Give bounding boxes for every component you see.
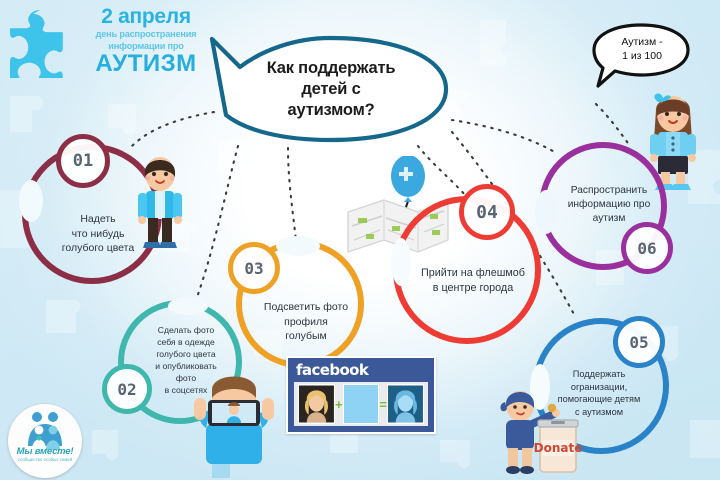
step-badge-01: 01 (56, 134, 110, 188)
step-number-05: 05 (629, 333, 648, 352)
step-06-line3: аутизм (547, 212, 671, 226)
puzzle-piece-icon (8, 10, 74, 78)
main-bubble-line1: Как поддержать (236, 58, 426, 79)
step-text-04: Прийти на флешмоб в центре города (405, 266, 541, 296)
step-05-line1: Поддержать (541, 368, 657, 381)
boy-taking-selfie-illustration (186, 368, 282, 480)
facebook-photo-strip: + = (294, 382, 428, 426)
main-bubble-text: Как поддержать детей с аутизмом? (236, 58, 426, 121)
step-04-line2: в центре города (405, 281, 541, 296)
step-text-06: Распространить информацию про аутизм (547, 184, 671, 226)
organization-logo: Мы вместе! сообщество особых семей (8, 404, 82, 478)
step-03-line1: Подсветить фото (246, 300, 366, 315)
step-text-03: Подсветить фото профиля голубым (246, 300, 366, 344)
donate-jar-label: Donate (534, 441, 583, 455)
step-number-03: 03 (244, 259, 263, 278)
step-02-line1: Сделать фото (128, 324, 244, 336)
step-badge-04: 04 (459, 184, 515, 240)
step-circle-04: 04 Прийти на флешмоб в центре города (393, 196, 541, 344)
facebook-profile-panel: facebook + = (286, 356, 436, 434)
step-number-06: 06 (637, 239, 656, 258)
facebook-wordmark: facebook (296, 361, 368, 379)
step-badge-05: 05 (613, 316, 665, 368)
step-06-line1: Распространить (547, 184, 671, 198)
logo-name: Мы вместе! (8, 446, 82, 457)
fact-bubble-line1: Аутизм - (600, 35, 684, 49)
main-speech-bubble: Как поддержать детей с аутизмом? (206, 33, 454, 145)
profile-photo-original (298, 384, 335, 424)
blue-overlay-swatch (343, 384, 380, 424)
plus-sign: + (335, 397, 343, 412)
header: 2 апреля день распространения информации… (8, 4, 213, 82)
step-03-line2: профиля (246, 315, 366, 330)
infographic-canvas: 2 апреля день распространения информации… (0, 0, 720, 480)
step-number-04: 04 (476, 202, 498, 223)
step-06-line2: информацию про (547, 198, 671, 212)
step-04-line1: Прийти на флешмоб (405, 266, 541, 281)
header-keyword: АУТИЗМ (76, 52, 216, 76)
main-bubble-line3: аутизмом? (236, 100, 426, 121)
step-03-line3: голубым (246, 329, 366, 344)
step-circle-03: 03 Подсветить фото профиля голубым (236, 240, 364, 368)
child-with-donation-jar-illustration: Donate (494, 382, 586, 478)
header-subtitle-line1: день распространения (76, 29, 216, 40)
step-circle-06: 06 Распространить информацию про аутизм (539, 142, 667, 270)
step-number-01: 01 (73, 151, 93, 171)
step-02-line2: себя в одежде (128, 336, 244, 348)
fact-speech-bubble: Аутизм - 1 из 100 (586, 22, 696, 90)
header-date: 2 апреля (76, 6, 216, 28)
step-badge-03: 03 (228, 242, 280, 294)
equals-sign: = (379, 397, 387, 412)
step-02-line3: голубого цвета (128, 348, 244, 360)
fact-bubble-text: Аутизм - 1 из 100 (600, 35, 684, 63)
profile-photo-blue-tinted (387, 384, 424, 424)
logo-tagline: сообщество особых семей (8, 457, 82, 462)
main-bubble-line2: детей с (236, 79, 426, 100)
boy-in-blue-jacket-illustration (128, 148, 192, 254)
fact-bubble-line2: 1 из 100 (600, 49, 684, 63)
step-badge-06: 06 (621, 222, 673, 274)
